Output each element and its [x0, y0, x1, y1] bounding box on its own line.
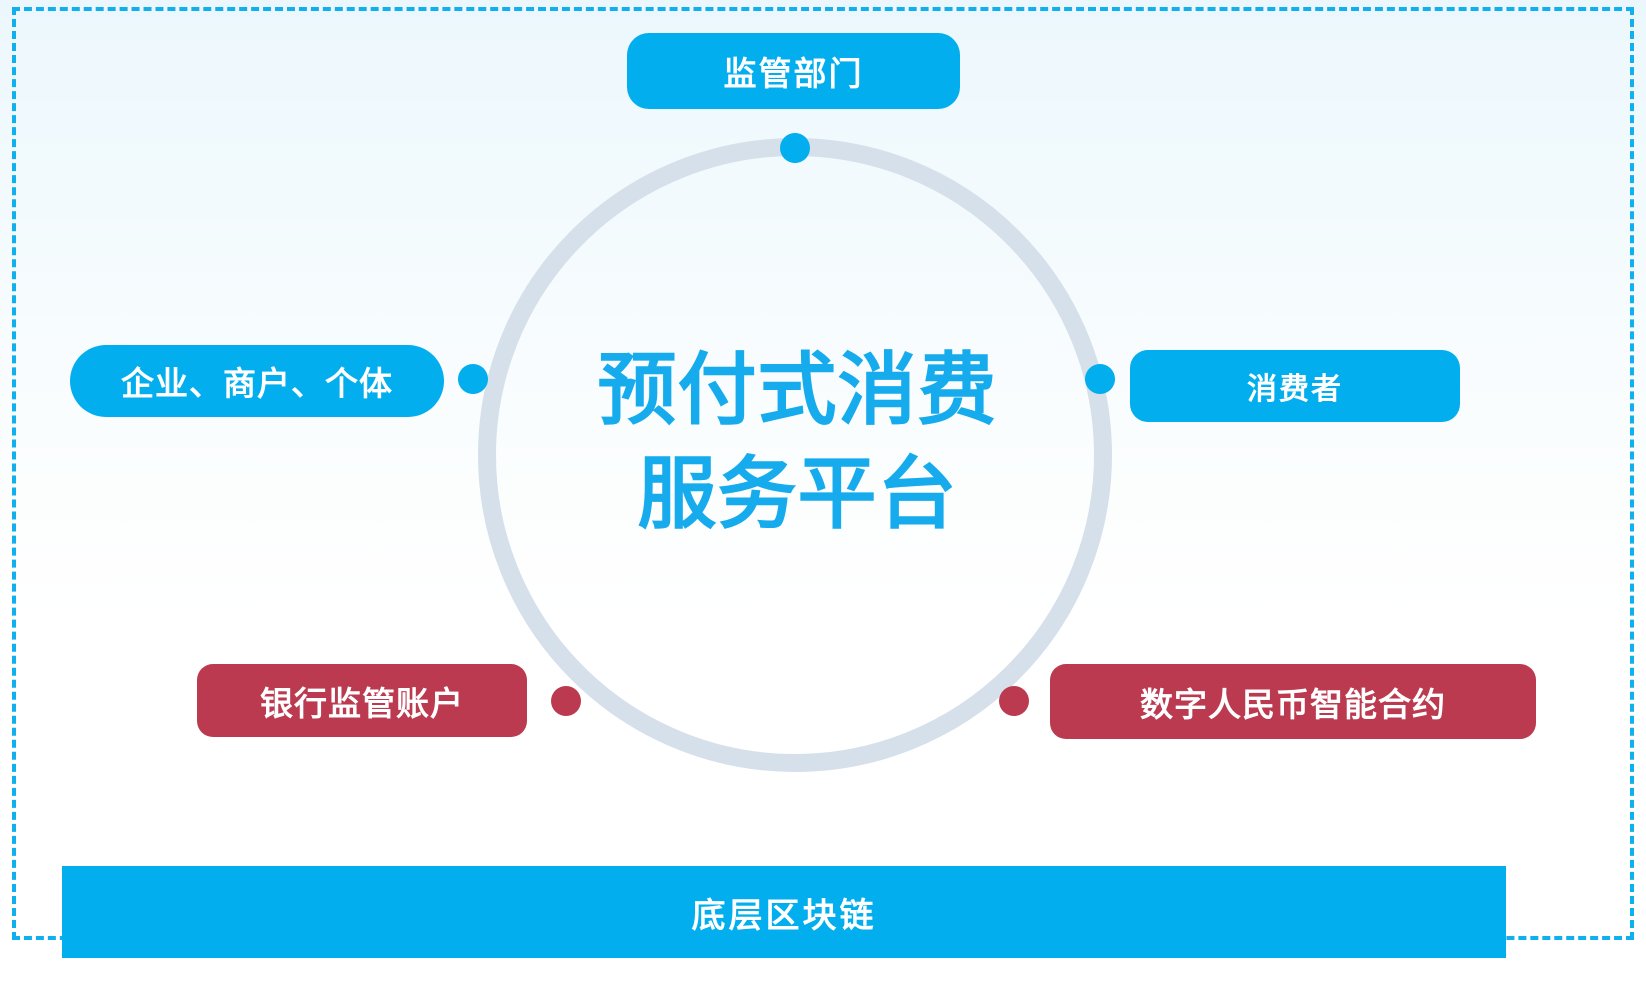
- node-merchants[interactable]: 企业、商户、个体: [70, 345, 444, 417]
- center-platform-title: 预付式消费 服务平台: [565, 338, 1030, 547]
- node-ecny-smart-contract-label: 数字人民币智能合约: [1140, 678, 1446, 726]
- node-regulator-label: 监管部门: [724, 47, 864, 95]
- node-consumer[interactable]: 消费者: [1130, 350, 1460, 422]
- consumer-dot-icon: [1085, 364, 1115, 394]
- node-bank-supervision-account[interactable]: 银行监管账户: [197, 664, 527, 737]
- node-regulator[interactable]: 监管部门: [627, 33, 960, 109]
- regulator-dot-icon: [780, 133, 810, 163]
- node-merchants-label: 企业、商户、个体: [121, 357, 393, 405]
- ecny-contract-dot-icon: [999, 686, 1029, 716]
- bank-account-dot-icon: [551, 686, 581, 716]
- center-title-line-1: 预付式消费: [565, 338, 1030, 442]
- foundation-blockchain-label: 底层区块链: [692, 888, 877, 937]
- node-bank-supervision-account-label: 银行监管账户: [260, 677, 464, 725]
- node-ecny-smart-contract[interactable]: 数字人民币智能合约: [1050, 664, 1536, 739]
- diagram-canvas: 预付式消费 服务平台 监管部门 企业、商户、个体 消费者 银行监管账户 数字人民…: [0, 0, 1646, 1000]
- merchants-dot-icon: [458, 364, 488, 394]
- center-title-line-2: 服务平台: [565, 442, 1030, 546]
- foundation-blockchain-bar[interactable]: 底层区块链: [62, 866, 1506, 958]
- node-consumer-label: 消费者: [1247, 364, 1343, 408]
